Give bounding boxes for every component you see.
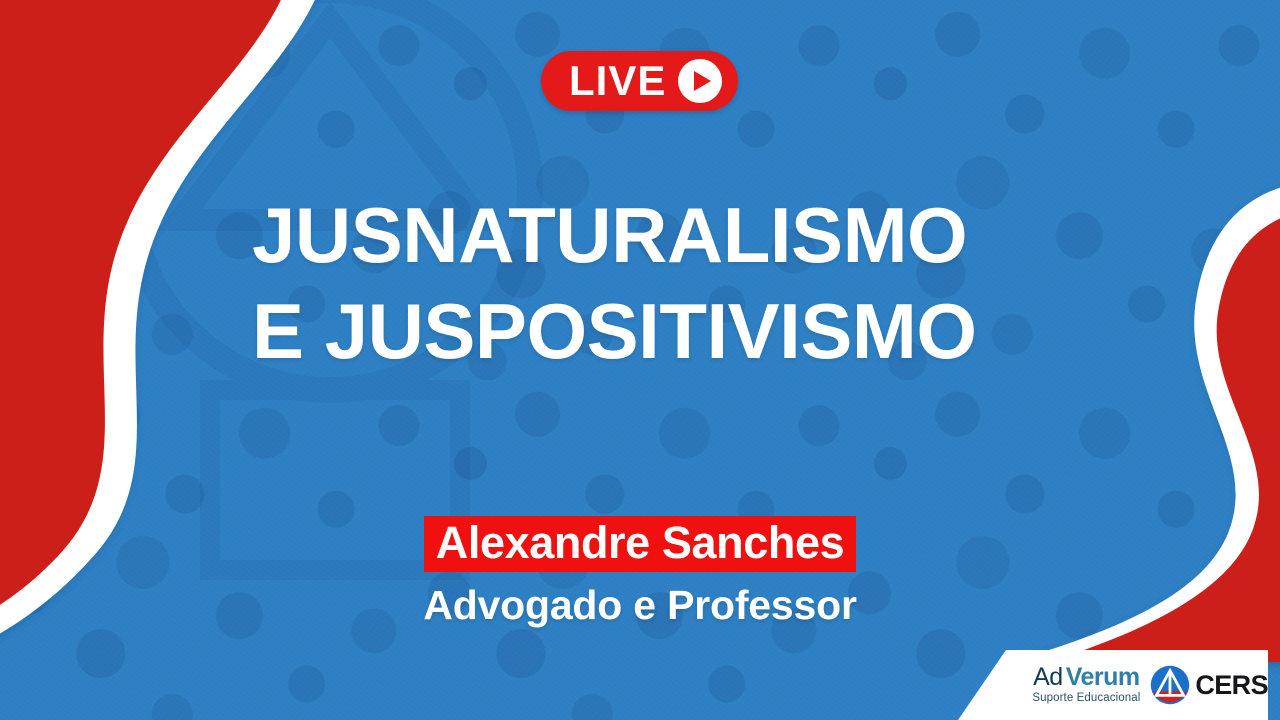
play-icon bbox=[678, 59, 722, 103]
speaker-name: Alexandre Sanches bbox=[436, 519, 844, 566]
adverum-wordmark: Ad Verum bbox=[1033, 665, 1140, 690]
title-card: LIVE JUSNATURALISMO E JUSPOSITIVISMO Ale… bbox=[0, 0, 1280, 720]
logo-bar: Ad Verum Suporte Educacional CERS bbox=[958, 650, 1280, 720]
title-line-1: JUSNATURALISMO bbox=[252, 188, 1062, 284]
adverum-logo: Ad Verum Suporte Educacional bbox=[1032, 665, 1140, 705]
live-badge[interactable]: LIVE bbox=[541, 51, 738, 111]
speaker-role: Advogado e Professor bbox=[423, 582, 856, 629]
adverum-word-verum: Verum bbox=[1066, 665, 1140, 690]
cers-label: CERS bbox=[1195, 670, 1268, 701]
cers-triangle-emblem-icon bbox=[1150, 665, 1190, 705]
cers-logo: CERS bbox=[1150, 665, 1268, 705]
page-title: JUSNATURALISMO E JUSPOSITIVISMO bbox=[252, 188, 1062, 380]
speaker-block: Alexandre Sanches Advogado e Professor bbox=[0, 516, 1280, 629]
adverum-tagline: Suporte Educacional bbox=[1032, 693, 1140, 705]
adverum-word-ad: Ad bbox=[1033, 665, 1063, 690]
title-line-2: E JUSPOSITIVISMO bbox=[252, 284, 1062, 380]
live-badge-label: LIVE bbox=[569, 60, 666, 102]
speaker-name-highlight: Alexandre Sanches bbox=[424, 516, 856, 572]
